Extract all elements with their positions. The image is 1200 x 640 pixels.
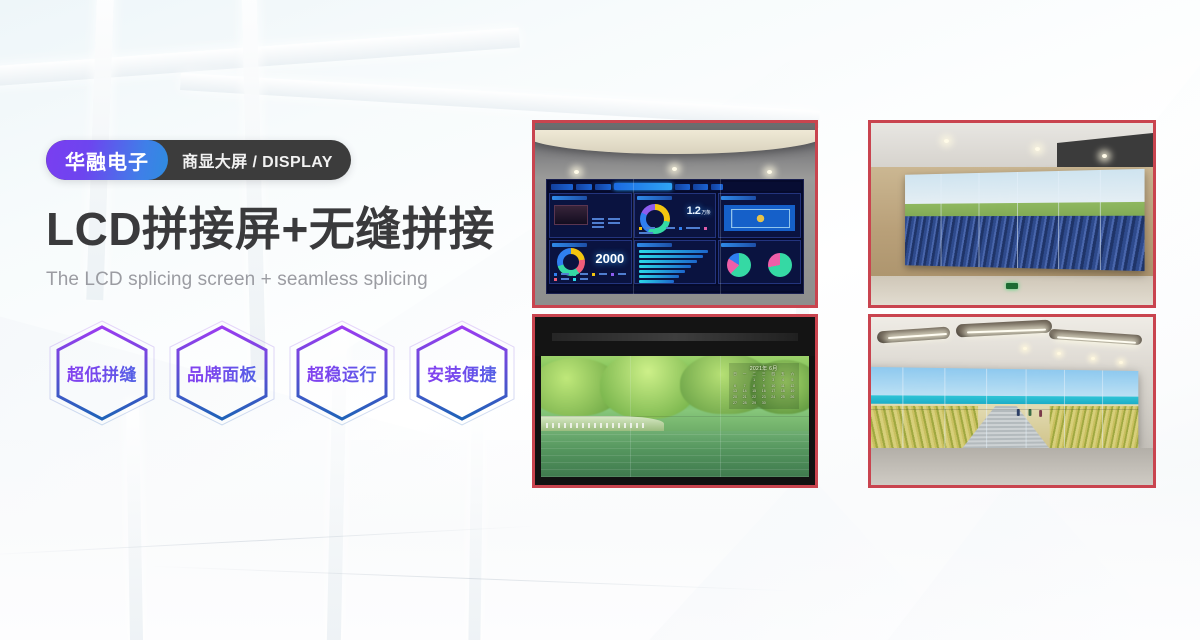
feature-badge-label: 安装便捷	[406, 360, 518, 385]
ceiling-spotlight	[1035, 147, 1040, 151]
dashboard-header-bar	[549, 182, 801, 191]
calendar-weekday: 日	[731, 373, 740, 378]
video-wall-screen: 2021年 6月 日 一 二 三 四 五 六 1 2 3 4	[541, 356, 810, 477]
dashboard-card: 1.2万条	[634, 193, 717, 237]
bg-beam	[468, 400, 483, 640]
person-figure	[1028, 409, 1031, 416]
bg-beam	[0, 28, 520, 89]
calendar-day: 2	[759, 379, 768, 384]
calendar-day: 4	[779, 379, 788, 384]
dashboard-card	[718, 240, 801, 284]
dune-grass	[1050, 406, 1138, 449]
brand-name: 华融电子	[46, 140, 168, 180]
floor	[871, 448, 1153, 485]
screen-bezel-top	[535, 317, 815, 356]
calendar-day: 30	[759, 402, 768, 407]
dashboard-card	[549, 193, 632, 237]
calendar-header: 2021年 6月	[731, 365, 797, 372]
ceiling-spotlight	[672, 167, 677, 171]
video-wall-screen	[905, 169, 1144, 272]
kpi-primary-value: 1.2万条	[687, 205, 711, 217]
ceiling-spotlight	[1119, 361, 1123, 364]
product-photo-top-left[interactable]: 1.2万条 2000	[532, 120, 818, 308]
page-title: LCD拼接屏+无缝拼接	[46, 204, 526, 255]
dune-grass	[871, 406, 978, 452]
calendar-weekday: 四	[769, 373, 778, 378]
product-photo-top-right[interactable]	[868, 120, 1156, 308]
dashboard-title-chip	[614, 183, 672, 190]
feature-badge: 超低拼缝	[46, 319, 158, 427]
floor	[871, 276, 1153, 305]
sky-region	[905, 169, 1144, 206]
feature-badge: 品牌面板	[166, 319, 278, 427]
feature-badge-label: 超低拼缝	[46, 360, 158, 385]
product-photo-bottom-right[interactable]	[868, 314, 1156, 488]
person-figure	[1039, 410, 1042, 417]
calendar-day	[740, 379, 749, 384]
lake-water	[541, 431, 810, 477]
bg-floor-line	[150, 566, 790, 592]
photo-content-solar-wall	[871, 123, 1153, 305]
solar-panel-array	[905, 216, 1144, 271]
dashboard-card: 2000	[549, 240, 632, 284]
bg-floor-line	[0, 525, 540, 555]
exit-sign-icon	[1006, 283, 1018, 289]
product-photo-bottom-left[interactable]: 2021年 6月 日 一 二 三 四 五 六 1 2 3 4	[532, 314, 818, 488]
banner-text-column: 华融电子 商显大屏 / DISPLAY LCD拼接屏+无缝拼接 The LCD …	[46, 140, 526, 427]
calendar-day: 25	[779, 396, 788, 401]
calendar-weekday: 五	[779, 373, 788, 378]
calendar-day: 1	[750, 379, 759, 384]
brand-category: 商显大屏 / DISPLAY	[168, 140, 351, 180]
flow-diagram	[724, 205, 795, 231]
page-subtitle: The LCD splicing screen + seamless splic…	[46, 269, 526, 291]
calendar-weekday: 二	[750, 373, 759, 378]
calendar-day: 28	[740, 402, 749, 407]
feature-badge: 安装便捷	[406, 319, 518, 427]
video-wall-screen: 1.2万条 2000	[546, 179, 804, 294]
calendar-overlay: 2021年 6月 日 一 二 三 四 五 六 1 2 3 4	[729, 363, 799, 409]
brand-badge: 华融电子 商显大屏 / DISPLAY	[46, 140, 351, 180]
feature-badge-label: 超稳运行	[286, 360, 398, 385]
photo-content-beach-wall	[871, 317, 1153, 485]
video-wall-screen	[871, 367, 1139, 452]
photo-content-dashboard-wall: 1.2万条 2000	[535, 123, 815, 305]
calendar-day: 3	[769, 379, 778, 384]
calendar-weekday: 六	[788, 373, 797, 378]
feature-badge-list: 超低拼缝 品牌面板 超稳运行	[46, 319, 526, 427]
pie-chart-group	[719, 253, 800, 277]
feature-badge: 超稳运行	[286, 319, 398, 427]
calendar-day: 24	[769, 396, 778, 401]
calendar-day	[731, 379, 740, 384]
kpi-secondary-value: 2000	[595, 251, 624, 266]
bg-wedge	[640, 470, 970, 640]
calendar-weekday: 三	[759, 373, 768, 378]
pie-chart	[768, 253, 792, 277]
calendar-grid: 日 一 二 三 四 五 六 1 2 3 4 5 6	[731, 373, 797, 407]
sky-region	[871, 367, 1139, 399]
white-railing	[546, 423, 648, 428]
photo-content-lake-wall: 2021年 6月 日 一 二 三 四 五 六 1 2 3 4	[535, 317, 815, 485]
pie-chart	[727, 253, 751, 277]
calendar-day: 29	[750, 402, 759, 407]
calendar-day: 5	[788, 379, 797, 384]
feature-badge-label: 品牌面板	[166, 360, 278, 385]
bg-beam	[126, 400, 143, 640]
bar-chart	[639, 250, 712, 284]
bg-wedge	[880, 470, 1180, 640]
dashboard-card	[718, 193, 801, 237]
calendar-day: 27	[731, 402, 740, 407]
promo-banner: 华融电子 商显大屏 / DISPLAY LCD拼接屏+无缝拼接 The LCD …	[0, 0, 1200, 640]
calendar-weekday: 一	[740, 373, 749, 378]
dashboard-card	[634, 240, 717, 284]
calendar-day: 26	[788, 396, 797, 401]
